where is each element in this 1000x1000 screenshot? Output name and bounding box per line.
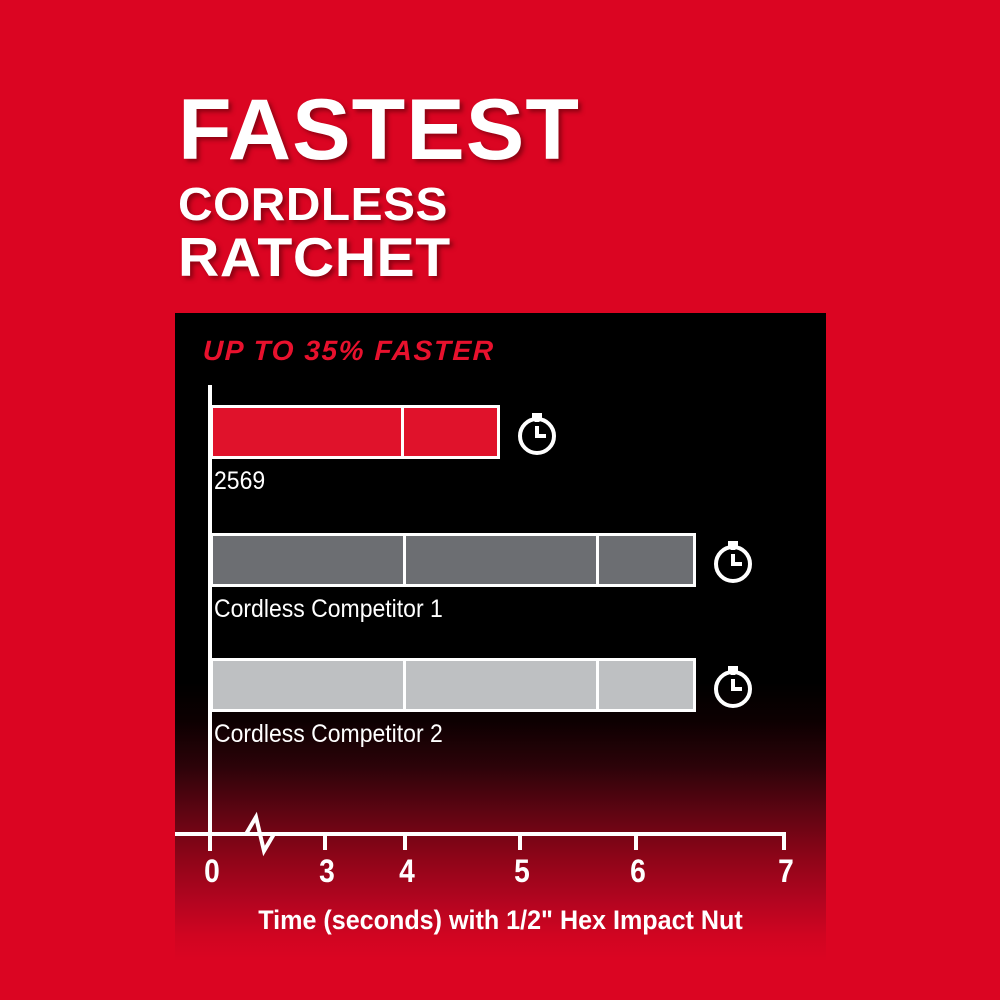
headline-line-ratchet: RATCHET: [178, 231, 906, 285]
stopwatch-icon: [706, 533, 760, 587]
headline-block: FASTEST CORDLESS RATCHET: [178, 88, 878, 285]
bar-segment: [213, 661, 406, 709]
headline-line-fastest: FASTEST: [178, 88, 892, 172]
stopwatch-icon: [510, 405, 564, 459]
bar-label-2: Cordless Competitor 2: [214, 720, 443, 749]
chart-panel: UP TO 35% FASTER 2569: [175, 313, 826, 961]
x-tick-5: [518, 832, 522, 850]
x-tick-6: [634, 832, 638, 850]
headline-line-cordless: CORDLESS: [178, 182, 906, 227]
x-tick-label-5: 5: [504, 853, 539, 890]
x-tick-7: [782, 832, 786, 850]
bar-segment: [406, 536, 600, 584]
x-axis-title: Time (seconds) with 1/2" Hex Impact Nut: [198, 905, 803, 936]
x-tick-label-6: 6: [620, 853, 655, 890]
bar-label-1: Cordless Competitor 1: [214, 595, 443, 624]
bar-2569: [210, 405, 500, 459]
x-tick-label-7: 7: [768, 853, 803, 890]
bar-segment: [213, 536, 406, 584]
bar-segment: [213, 408, 404, 456]
stopwatch-icon: [706, 658, 760, 712]
axis-break-icon: [230, 811, 290, 857]
bar-cordless-competitor-2: [210, 658, 696, 712]
bar-segment: [406, 661, 600, 709]
x-tick-3: [323, 832, 327, 850]
bar-cordless-competitor-1: [210, 533, 696, 587]
plot-area: 2569 Cordless Competitor 1: [175, 313, 826, 961]
bar-label-0: 2569: [214, 467, 265, 496]
x-tick-label-4: 4: [389, 853, 424, 890]
bar-segment: [404, 408, 497, 456]
x-tick-label-3: 3: [309, 853, 344, 890]
x-tick-4: [403, 832, 407, 850]
x-tick-label-0: 0: [194, 853, 229, 890]
bar-segment: [599, 661, 693, 709]
bar-segment: [599, 536, 693, 584]
x-tick-0: [208, 813, 212, 851]
